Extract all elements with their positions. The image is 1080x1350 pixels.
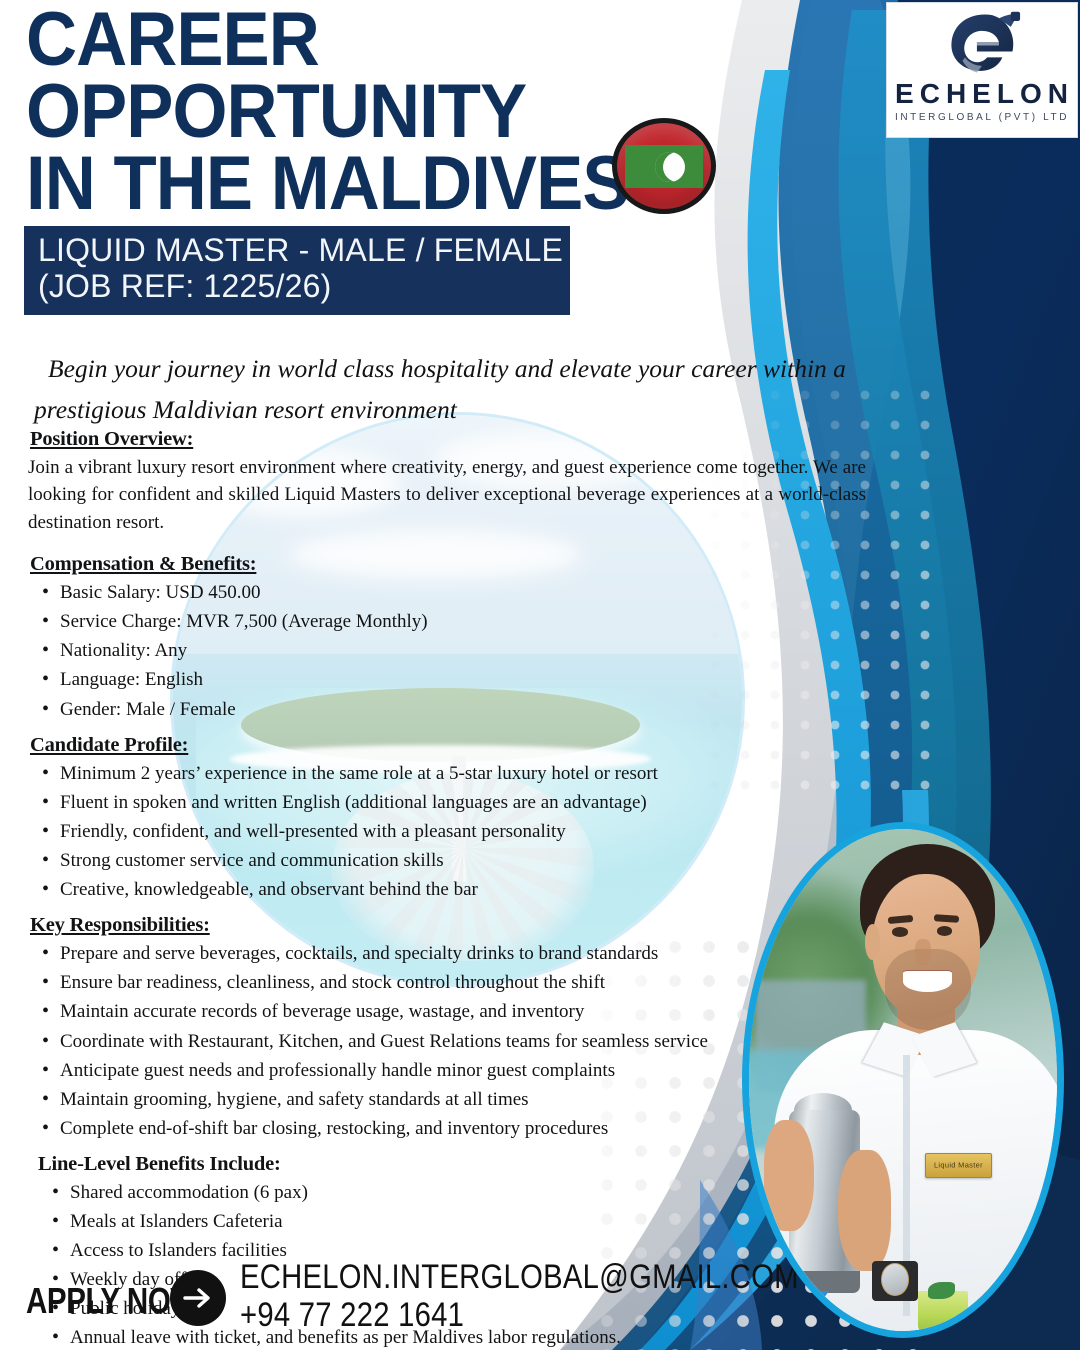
benefit-list: Basic Salary: USD 450.00 Service Charge:… [28,579,878,724]
logo-company-subtitle: INTERGLOBAL (PVT) LTD [895,112,1069,123]
echelon-logo-icon [939,10,1025,76]
tagline: Begin your journey in world class hospit… [34,348,854,431]
bartender-photo: Liquid Master [742,822,1064,1338]
section-heading: Candidate Profile: [30,734,878,757]
headline-line-1: CAREER OPPORTUNITY [26,0,526,154]
list-item: Language: English [28,666,878,694]
company-logo: ECHELON INTERGLOBAL (PVT) LTD [886,2,1078,138]
contact-email[interactable]: ECHELON.INTERGLOBAL@GMAIL.COM [240,1259,799,1296]
list-item: Basic Salary: USD 450.00 [28,579,878,607]
section-heading: Compensation & Benefits: [30,553,878,576]
job-reference: (JOB REF: 1225/26) [38,269,556,305]
cherry-garnish [792,1293,809,1311]
arrow-right-icon[interactable] [170,1270,226,1326]
logo-company-name: ECHELON [895,78,1074,110]
list-item: Gender: Male / Female [28,696,878,724]
section-paragraph: Join a vibrant luxury resort environment… [28,454,866,536]
mint-garnish [928,1282,956,1299]
contact-phone[interactable]: +94 77 222 1641 [240,1296,799,1334]
job-title-bar: LIQUID MASTER - MALE / FEMALE (JOB REF: … [24,226,570,315]
list-item: Service Charge: MVR 7,500 (Average Month… [28,608,878,636]
section-heading: Position Overview: [30,428,878,451]
maldives-flag-icon [612,118,716,214]
job-title: LIQUID MASTER - MALE / FEMALE [38,233,556,269]
section-position-overview: Position Overview: Join a vibrant luxury… [28,428,878,536]
list-item: Fluent in spoken and written English (ad… [28,789,878,817]
section-compensation-benefits: Compensation & Benefits: Basic Salary: U… [28,553,878,724]
contact-block: ECHELON.INTERGLOBAL@GMAIL.COM +94 77 222… [240,1259,799,1334]
list-item: Nationality: Any [28,637,878,665]
job-advert-poster: CAREER OPPORTUNITY IN THE MALDIVES LIQUI… [0,0,1080,1350]
list-item: Minimum 2 years’ experience in the same … [28,760,878,788]
name-badge-text: Liquid Master [926,1161,992,1170]
uniform-name-badge: Liquid Master [925,1153,993,1178]
